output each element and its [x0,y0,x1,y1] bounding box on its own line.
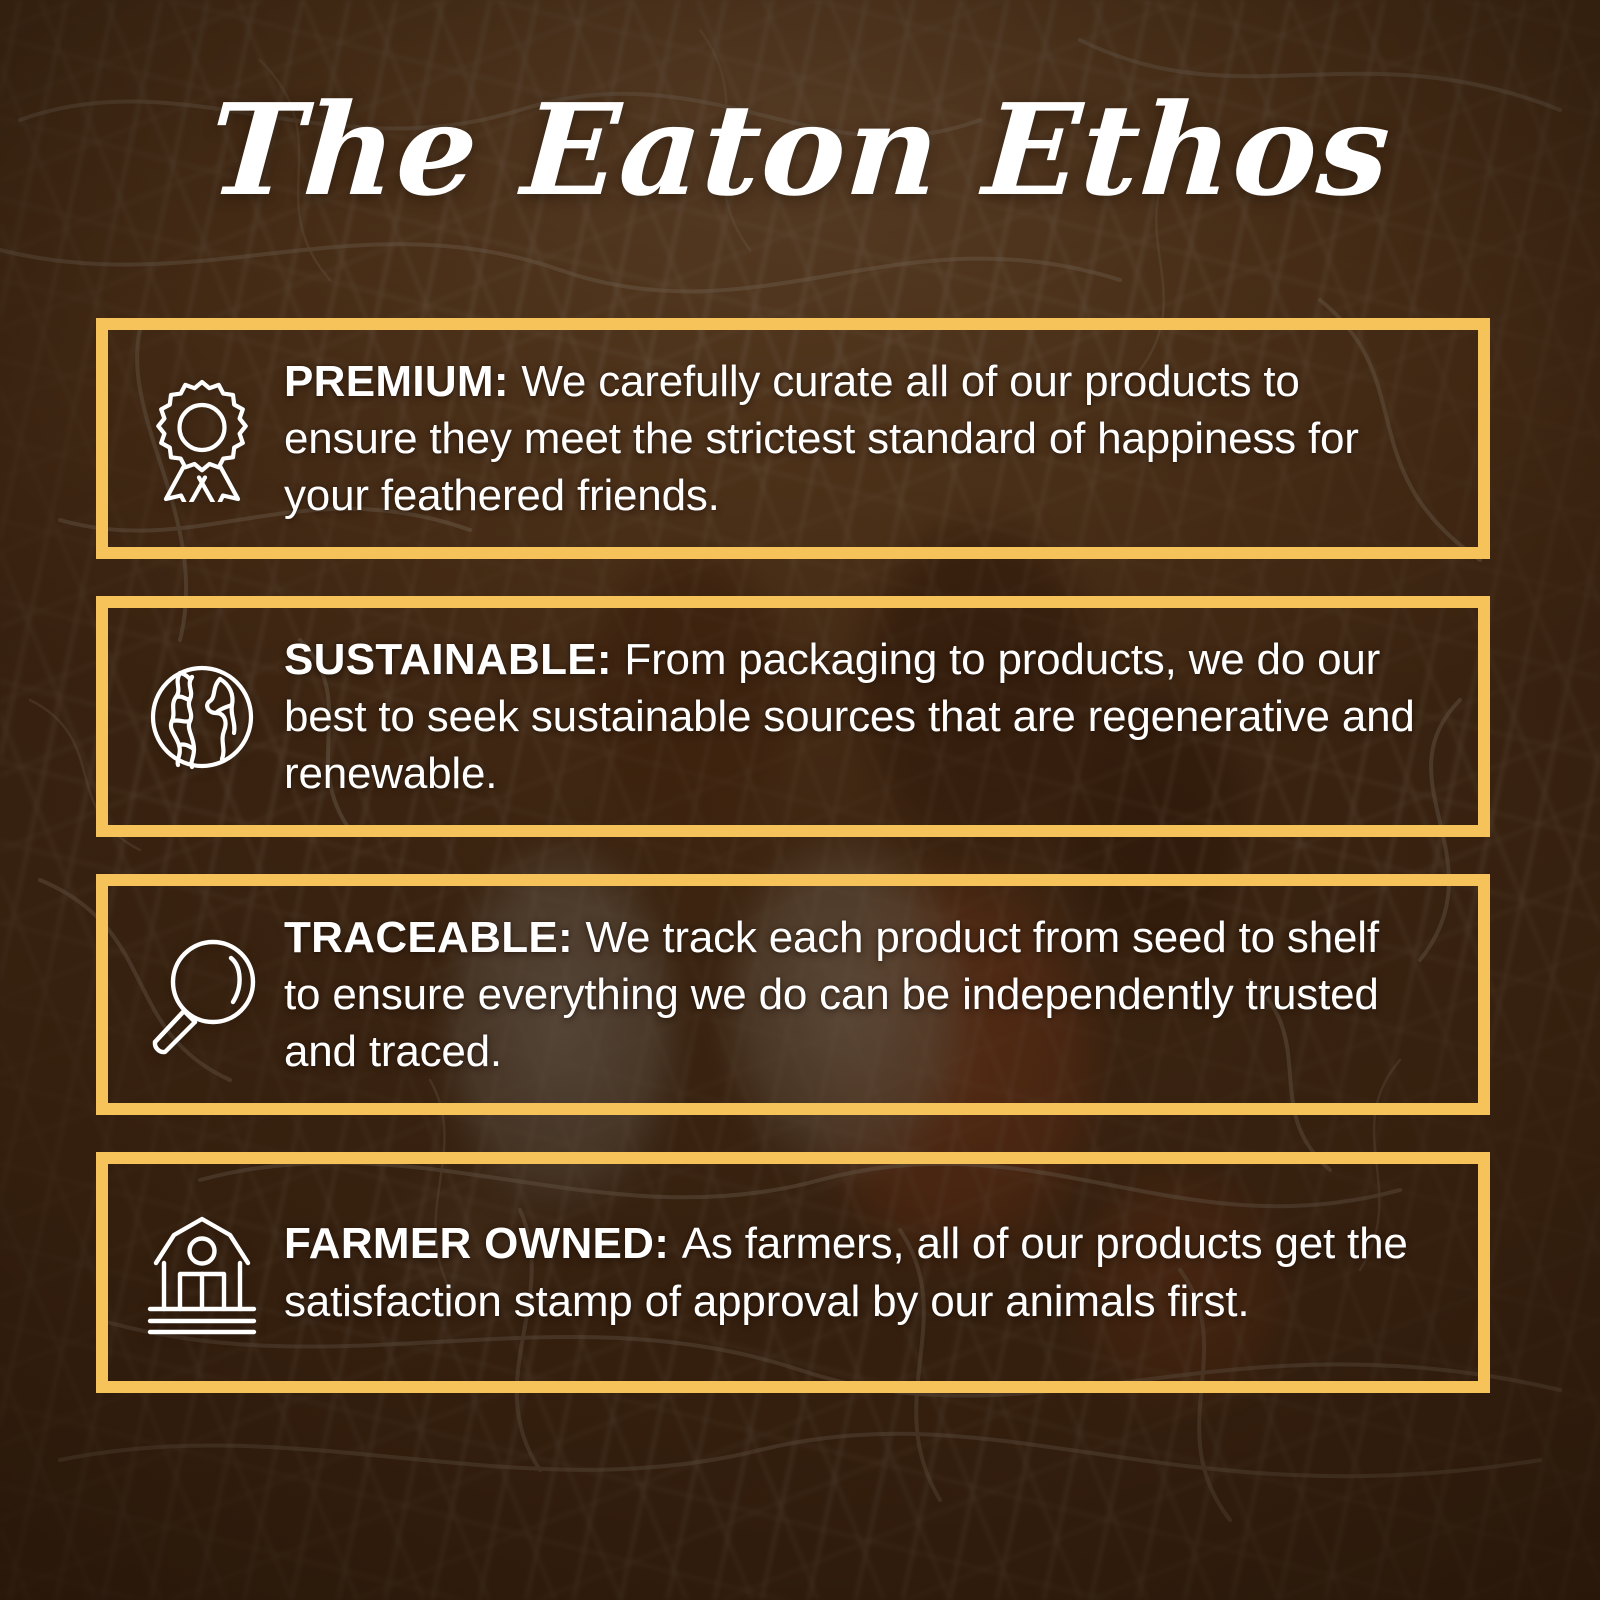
barn-icon [108,1211,284,1335]
page-title: The Eaton Ethos [0,84,1600,216]
ethos-card-label: PREMIUM: [284,357,521,406]
ethos-card-premium: PREMIUM: We carefully curate all of our … [96,318,1490,559]
ethos-card-text: SUSTAINABLE: From packaging to products,… [284,631,1478,803]
ethos-card-sustainable: SUSTAINABLE: From packaging to products,… [96,596,1490,837]
ethos-card-list: PREMIUM: We carefully curate all of our … [96,318,1490,1393]
ethos-card-text: TRACEABLE: We track each product from se… [284,909,1478,1081]
ethos-card-farmer-owned: FARMER OWNED: As farmers, all of our pro… [96,1152,1490,1393]
ethos-card-traceable: TRACEABLE: We track each product from se… [96,874,1490,1115]
poster: The Eaton Ethos PREMIUM: [0,0,1600,1600]
globe-icon [108,661,284,773]
ethos-card-text: PREMIUM: We carefully curate all of our … [284,353,1478,525]
ethos-card-label: TRACEABLE: [284,913,586,962]
poster-content: The Eaton Ethos PREMIUM: [0,0,1600,1600]
ethos-card-label: FARMER OWNED: [284,1219,682,1268]
award-ribbon-icon [108,376,284,502]
ethos-card-text: FARMER OWNED: As farmers, all of our pro… [284,1215,1478,1329]
ethos-card-label: SUSTAINABLE: [284,635,624,684]
magnifying-glass-icon [108,934,284,1056]
